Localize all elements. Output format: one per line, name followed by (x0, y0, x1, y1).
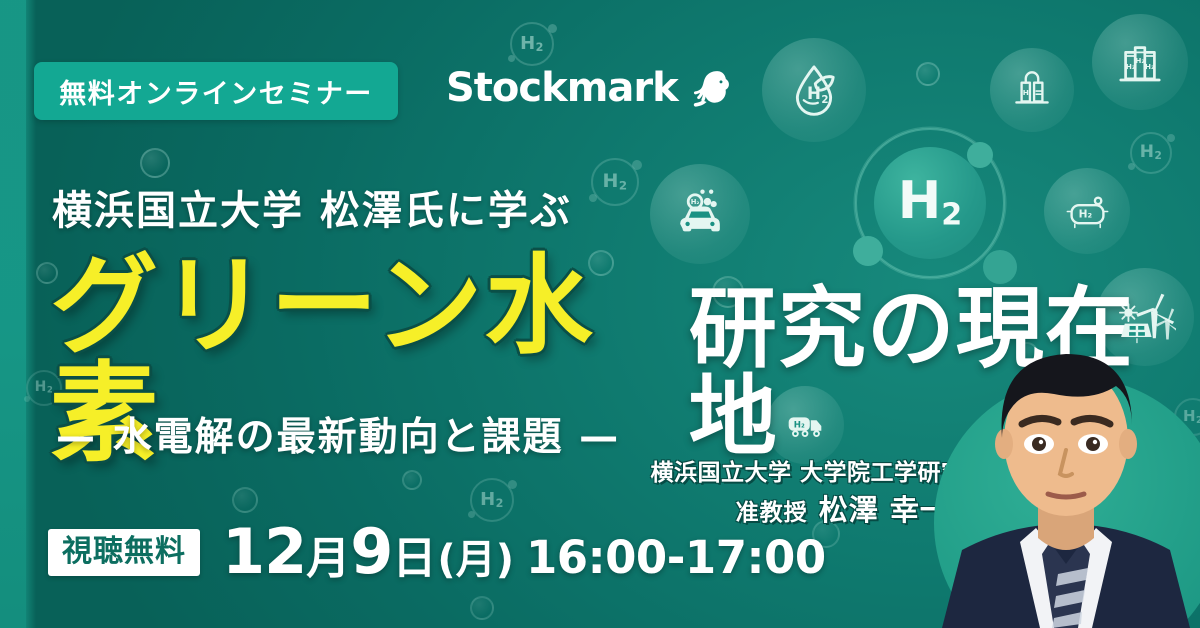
h2-molecule-icon: H2 (591, 158, 639, 206)
portrait-illustration (932, 328, 1200, 628)
h2-molecule-icon: H2 (510, 22, 554, 66)
large-h2-label: H2 (898, 175, 963, 231)
svg-text:H₂: H₂ (1135, 56, 1144, 65)
squirrel-icon (688, 68, 730, 108)
event-time: 16:00-17:00 (526, 535, 826, 580)
free-seminar-badge: 無料オンラインセミナー (34, 62, 398, 120)
fuel-cell-car-icon: H₂ (650, 164, 750, 264)
stockmark-logo[interactable]: Stockmark (446, 68, 730, 108)
bubble (140, 148, 170, 178)
page-subtitle: — 水電解の最新動向と課題 — (56, 406, 620, 462)
webinar-banner: H2H2H2H2H2H2 H2HH₂H₂H₂H₂H₂H₂ H2 無料オンラインセ… (0, 0, 1200, 628)
event-day: 9 (350, 521, 392, 583)
h2-molecule-icon: H2 (1130, 132, 1172, 174)
event-month-unit: 月 (306, 537, 350, 581)
free-viewing-label: 視聴無料 (62, 537, 186, 567)
svg-text:2: 2 (821, 94, 828, 106)
left-accent-strip (0, 0, 26, 628)
h2-molecule-icon: H2 (470, 478, 514, 522)
event-datetime-bar: 視聴無料 12 月 9 日 (月) 16:00-17:00 (48, 521, 826, 583)
free-viewing-badge: 視聴無料 (48, 529, 200, 576)
svg-text:H₂: H₂ (1078, 208, 1092, 220)
h2-molecule-label: H2 (602, 172, 627, 192)
speaker-name: 松澤 幸一 (819, 493, 950, 527)
bubble (916, 62, 940, 86)
h2-molecule-label: H2 (520, 35, 544, 53)
event-month: 12 (222, 521, 306, 583)
svg-text:H: H (1023, 88, 1029, 97)
bubble (232, 487, 258, 513)
hydrogen-electrolyzer-icon: H (990, 48, 1074, 132)
h2-molecule-label: H2 (480, 491, 504, 509)
page-pretitle: 横浜国立大学 松澤氏に学ぶ (52, 178, 572, 236)
event-day-unit: 日 (392, 537, 436, 581)
svg-text:H₂: H₂ (1145, 62, 1154, 71)
free-seminar-label: 無料オンラインセミナー (59, 72, 373, 111)
event-weekday: (月) (437, 540, 514, 580)
stockmark-wordmark: Stockmark (446, 68, 678, 108)
event-datetime: 12 月 9 日 (月) 16:00-17:00 (222, 521, 826, 583)
bubble (470, 596, 494, 620)
hydrogen-generator-icon: H₂ (1044, 168, 1130, 254)
svg-text:H₂: H₂ (794, 420, 805, 430)
hydrogen-droplet-leaf-icon: H2 (762, 38, 866, 142)
svg-text:H: H (807, 84, 821, 103)
speaker-portrait (932, 328, 1200, 628)
hydrogen-tanks-icon: H₂H₂H₂ (1092, 14, 1188, 110)
bubble (402, 470, 422, 490)
svg-text:H₂: H₂ (691, 198, 700, 206)
svg-text:H₂: H₂ (1126, 62, 1135, 71)
h2-molecule-label: H2 (1140, 144, 1163, 162)
